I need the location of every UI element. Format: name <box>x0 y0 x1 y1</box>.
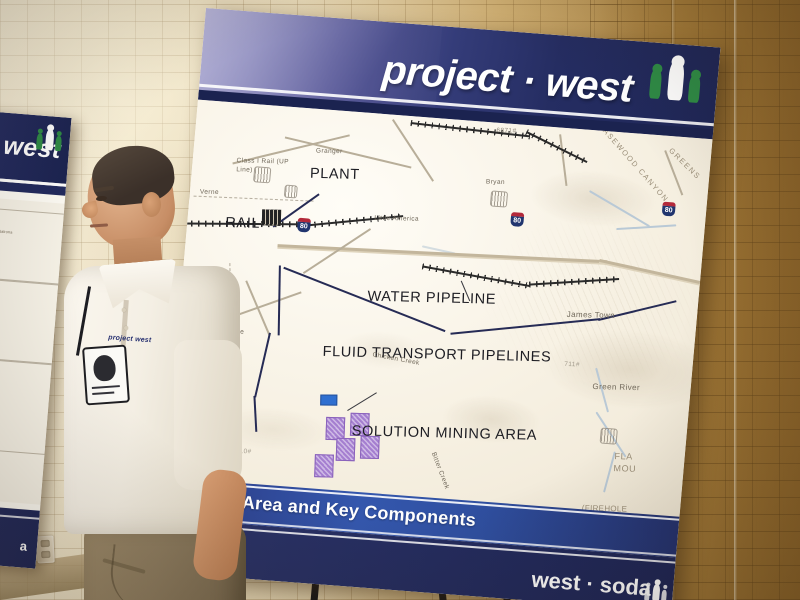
highway-shield-icon: 80 <box>510 212 524 227</box>
figure-head <box>654 579 661 585</box>
secondary-board-footer: a <box>0 499 40 569</box>
plant-facility-icon <box>262 209 282 225</box>
name-badge <box>82 345 130 406</box>
map-label-route-6871: 6871# <box>496 127 516 134</box>
figure-green <box>649 68 663 99</box>
figure-head <box>663 585 667 589</box>
photo-scene: · west <box>0 0 800 600</box>
electrical-outlet-icon <box>36 536 54 564</box>
figure-head <box>57 131 62 136</box>
wall-seam <box>734 0 737 600</box>
map-label-james-town: James Town <box>567 310 616 320</box>
map-label-route-711: 711# <box>564 361 580 368</box>
figure-green <box>688 74 701 103</box>
badge-photo <box>93 354 117 381</box>
brand-wordmark: west · soda <box>530 567 652 600</box>
figure-head <box>651 63 662 74</box>
figure-green <box>55 136 62 151</box>
shirt-button <box>124 326 128 330</box>
figure-white <box>652 584 660 600</box>
map-label-plant: PLANT <box>310 166 360 183</box>
figure-head <box>38 128 43 133</box>
person-presenter: project west <box>58 150 243 600</box>
badge-line <box>92 391 114 395</box>
outlet-socket <box>41 540 50 547</box>
mining-block <box>325 417 345 440</box>
badge-line <box>92 385 120 389</box>
figure-green <box>36 133 43 149</box>
mining-block <box>336 438 356 461</box>
people-figures-icon <box>639 48 714 109</box>
project-area-map: 80 80 80 80 <box>165 100 713 518</box>
pocket-seam <box>107 544 191 600</box>
map-label-class-i-rail: Class I Rail (UP Line) <box>236 156 293 175</box>
water-feature-marker <box>320 395 337 406</box>
map-label-granger: Granger <box>316 148 343 156</box>
town-marker <box>284 185 298 199</box>
outlet-socket <box>41 551 50 558</box>
secondary-footer-text: a <box>19 538 27 554</box>
map-label-green-river: Green River <box>592 382 640 392</box>
map-label-water-pipeline: WATER PIPELINE <box>367 289 496 308</box>
map-label-little-america: Little America <box>374 215 419 223</box>
figure-white <box>45 129 55 151</box>
divider <box>0 506 39 520</box>
people-figures-icon <box>642 577 672 600</box>
figure-white <box>667 60 685 101</box>
town-marker <box>490 190 508 207</box>
figure-head <box>671 55 685 69</box>
figure-head <box>690 69 701 80</box>
ear <box>142 192 161 217</box>
figure-small <box>661 590 667 600</box>
highway-shield-icon: 80 <box>297 218 311 233</box>
map-label-mou: MOU <box>613 463 636 474</box>
shield-number: 80 <box>297 222 311 233</box>
figure-head <box>47 124 55 132</box>
town-marker <box>600 428 618 445</box>
map-label-fla: FLA <box>614 451 633 461</box>
map-label-bryan: Bryan <box>486 178 505 185</box>
mining-block <box>314 454 334 477</box>
city-label: Natrona <box>0 229 13 235</box>
people-figures-icon <box>33 121 69 154</box>
figure-head <box>646 582 650 586</box>
shirt-button <box>122 308 126 312</box>
shield-number: 80 <box>662 206 676 217</box>
figure-small <box>644 587 650 600</box>
shield-number: 80 <box>510 216 524 227</box>
sleeve <box>174 340 242 490</box>
